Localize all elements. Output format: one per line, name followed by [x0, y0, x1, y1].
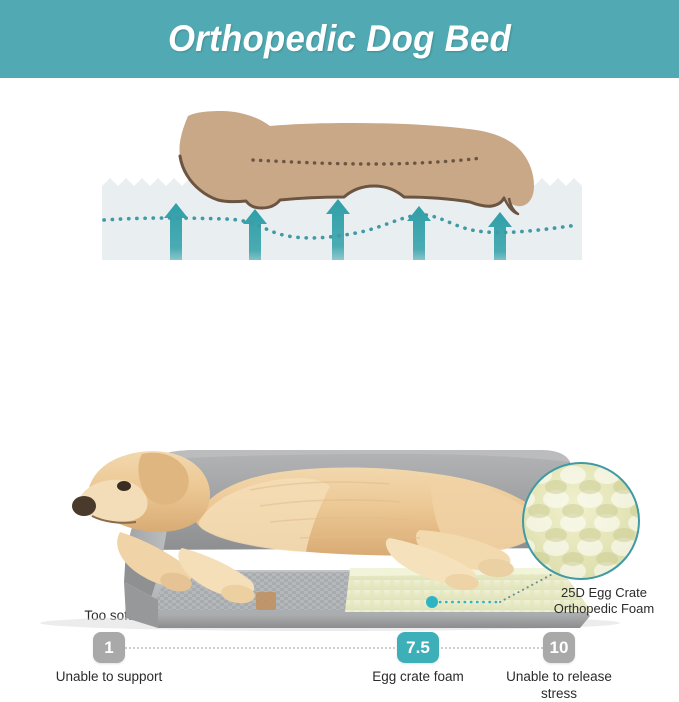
scale-badge-7-5: 7.5 [397, 632, 439, 663]
foam-callout-caption: 25D Egg Crate Orthopedic Foam [554, 585, 654, 617]
pressure-diagram [0, 78, 679, 293]
header-banner: Orthopedic Dog Bed [0, 0, 679, 78]
foam-caption-line-2: Orthopedic Foam [554, 601, 654, 617]
scale-bottom-label-soft: Unable to support [56, 668, 163, 685]
foam-caption-line-1: 25D Egg Crate [554, 585, 654, 601]
page-title: Orthopedic Dog Bed [168, 18, 511, 60]
scale-badge-10: 10 [543, 632, 575, 663]
scale-bottom-label-medium: Egg crate foam [372, 668, 464, 685]
foam-callout [519, 461, 679, 586]
hardness-scale: Too soft 1 Unable to support Medium hard… [0, 300, 679, 410]
scale-bottom-label-hard: Unable to release stress [499, 668, 619, 702]
brand-tag [256, 592, 276, 610]
scale-badge-1: 1 [93, 632, 125, 663]
foam-locator-dot [426, 596, 438, 608]
infographic-page: Orthopedic Dog Bed [0, 0, 679, 631]
scale-track [118, 647, 563, 649]
